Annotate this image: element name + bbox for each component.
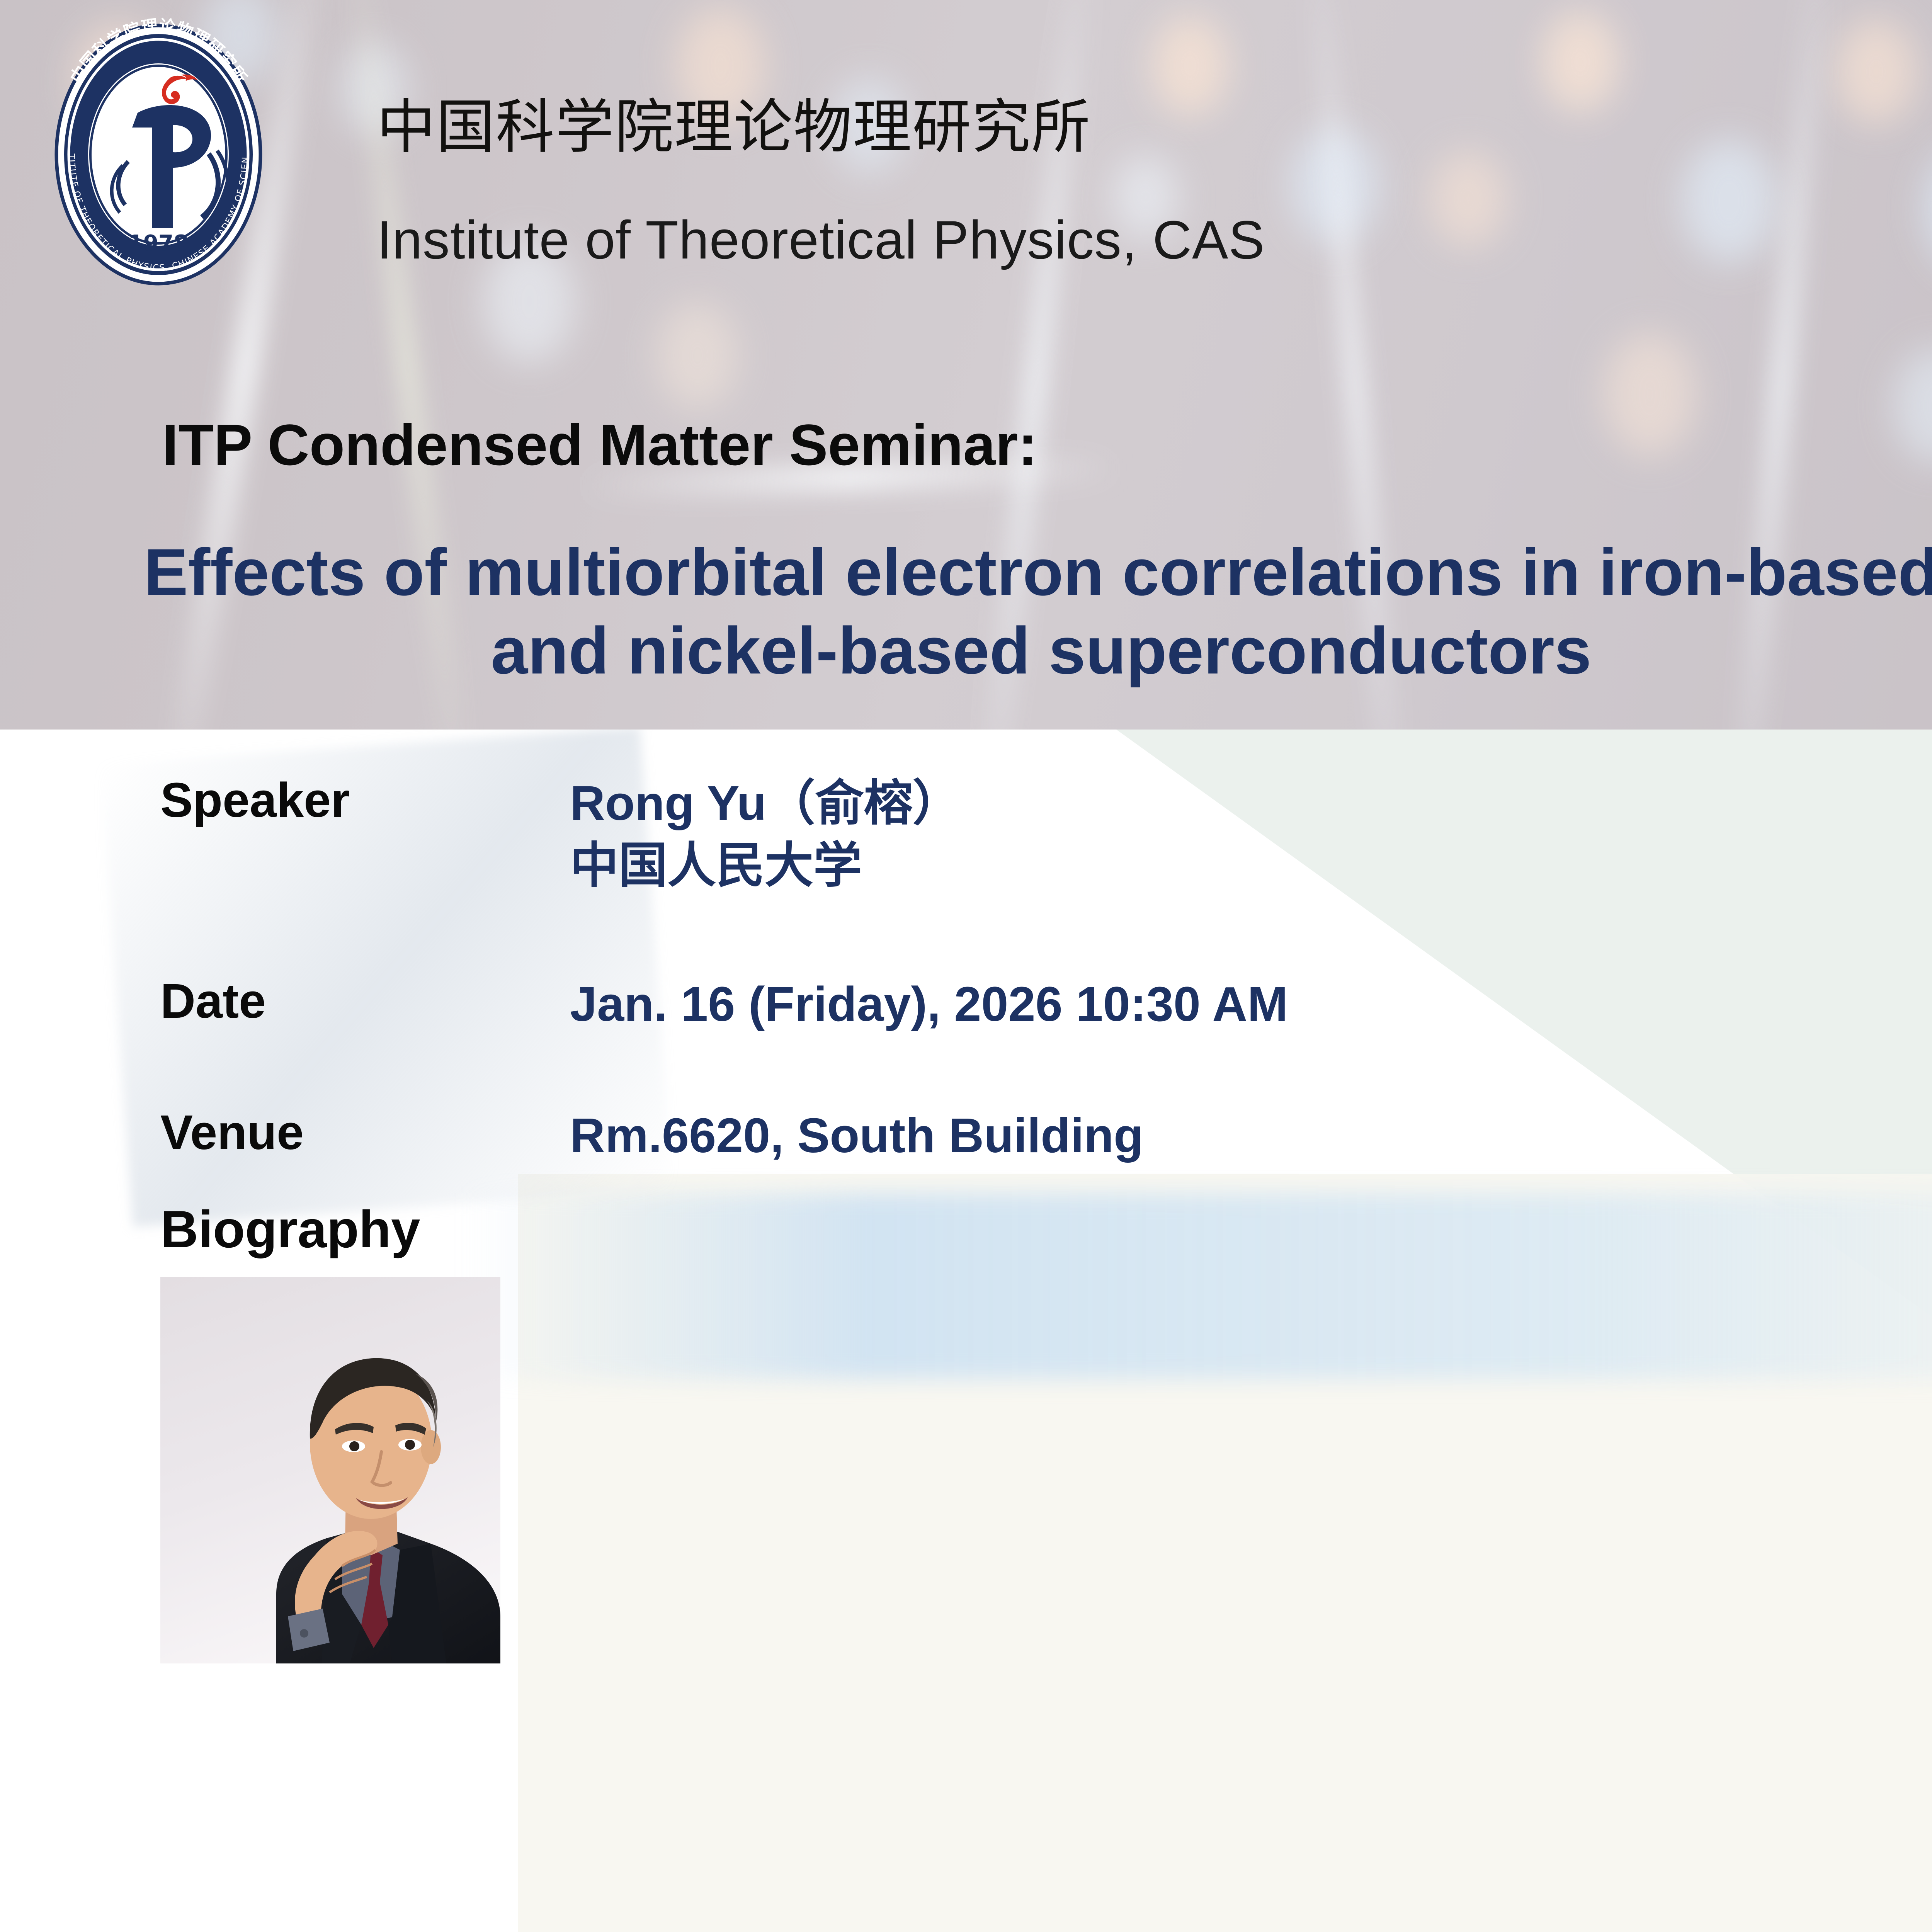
talk-title-line-2: and nickel-based superconductors bbox=[23, 612, 1932, 690]
seminar-series-label: ITP Condensed Matter Seminar: bbox=[162, 412, 1037, 478]
date-row: Date Jan. 16 (Friday), 2026 10:30 AM bbox=[160, 973, 1288, 1035]
speaker-name: Rong Yu（俞榕） bbox=[570, 772, 961, 834]
itp-logo: 中国科学院理论物理研究所 INSTITUTE OF THEORETICAL PH… bbox=[27, 12, 290, 298]
bokeh-circle bbox=[1542, 12, 1619, 112]
bokeh-circle bbox=[1835, 19, 1917, 124]
speaker-affiliation: 中国人民大学 bbox=[570, 834, 961, 896]
institute-name-en: Institute of Theoretical Physics, CAS bbox=[377, 209, 1265, 271]
talk-title: Effects of multiorbital electron correla… bbox=[0, 533, 1932, 690]
talk-title-line-1: Effects of multiorbital electron correla… bbox=[23, 533, 1932, 612]
speaker-photo bbox=[160, 1277, 500, 1663]
venue-value: Rm.6620, South Building bbox=[570, 1104, 1143, 1167]
institute-name-cn: 中国科学院理论物理研究所 bbox=[377, 79, 1091, 164]
speaker-row: Speaker Rong Yu（俞榕） 中国人民大学 bbox=[160, 772, 961, 897]
background-blue-wash bbox=[464, 1193, 1932, 1379]
poster-header: 中国科学院理论物理研究所 INSTITUTE OF THEORETICAL PH… bbox=[0, 0, 1932, 730]
bokeh-circle bbox=[1430, 151, 1507, 247]
venue-row: Venue Rm.6620, South Building bbox=[160, 1104, 1143, 1167]
bokeh-circle bbox=[1151, 15, 1229, 116]
date-label: Date bbox=[160, 973, 570, 1029]
biography-heading: Biography bbox=[160, 1199, 420, 1259]
bokeh-circle bbox=[657, 301, 738, 410]
bokeh-circle bbox=[1681, 139, 1777, 263]
date-value: Jan. 16 (Friday), 2026 10:30 AM bbox=[570, 973, 1288, 1035]
logo-year: 1978 bbox=[128, 231, 189, 256]
speaker-label: Speaker bbox=[160, 772, 570, 828]
bokeh-circle bbox=[1893, 348, 1932, 464]
bokeh-circle bbox=[1604, 332, 1696, 456]
venue-label: Venue bbox=[160, 1104, 570, 1160]
poster-body: Speaker Rong Yu（俞榕） 中国人民大学 Date Jan. 16 … bbox=[0, 730, 1932, 1932]
speaker-value-group: Rong Yu（俞榕） 中国人民大学 bbox=[570, 772, 961, 897]
bokeh-circle bbox=[1924, 143, 1932, 274]
